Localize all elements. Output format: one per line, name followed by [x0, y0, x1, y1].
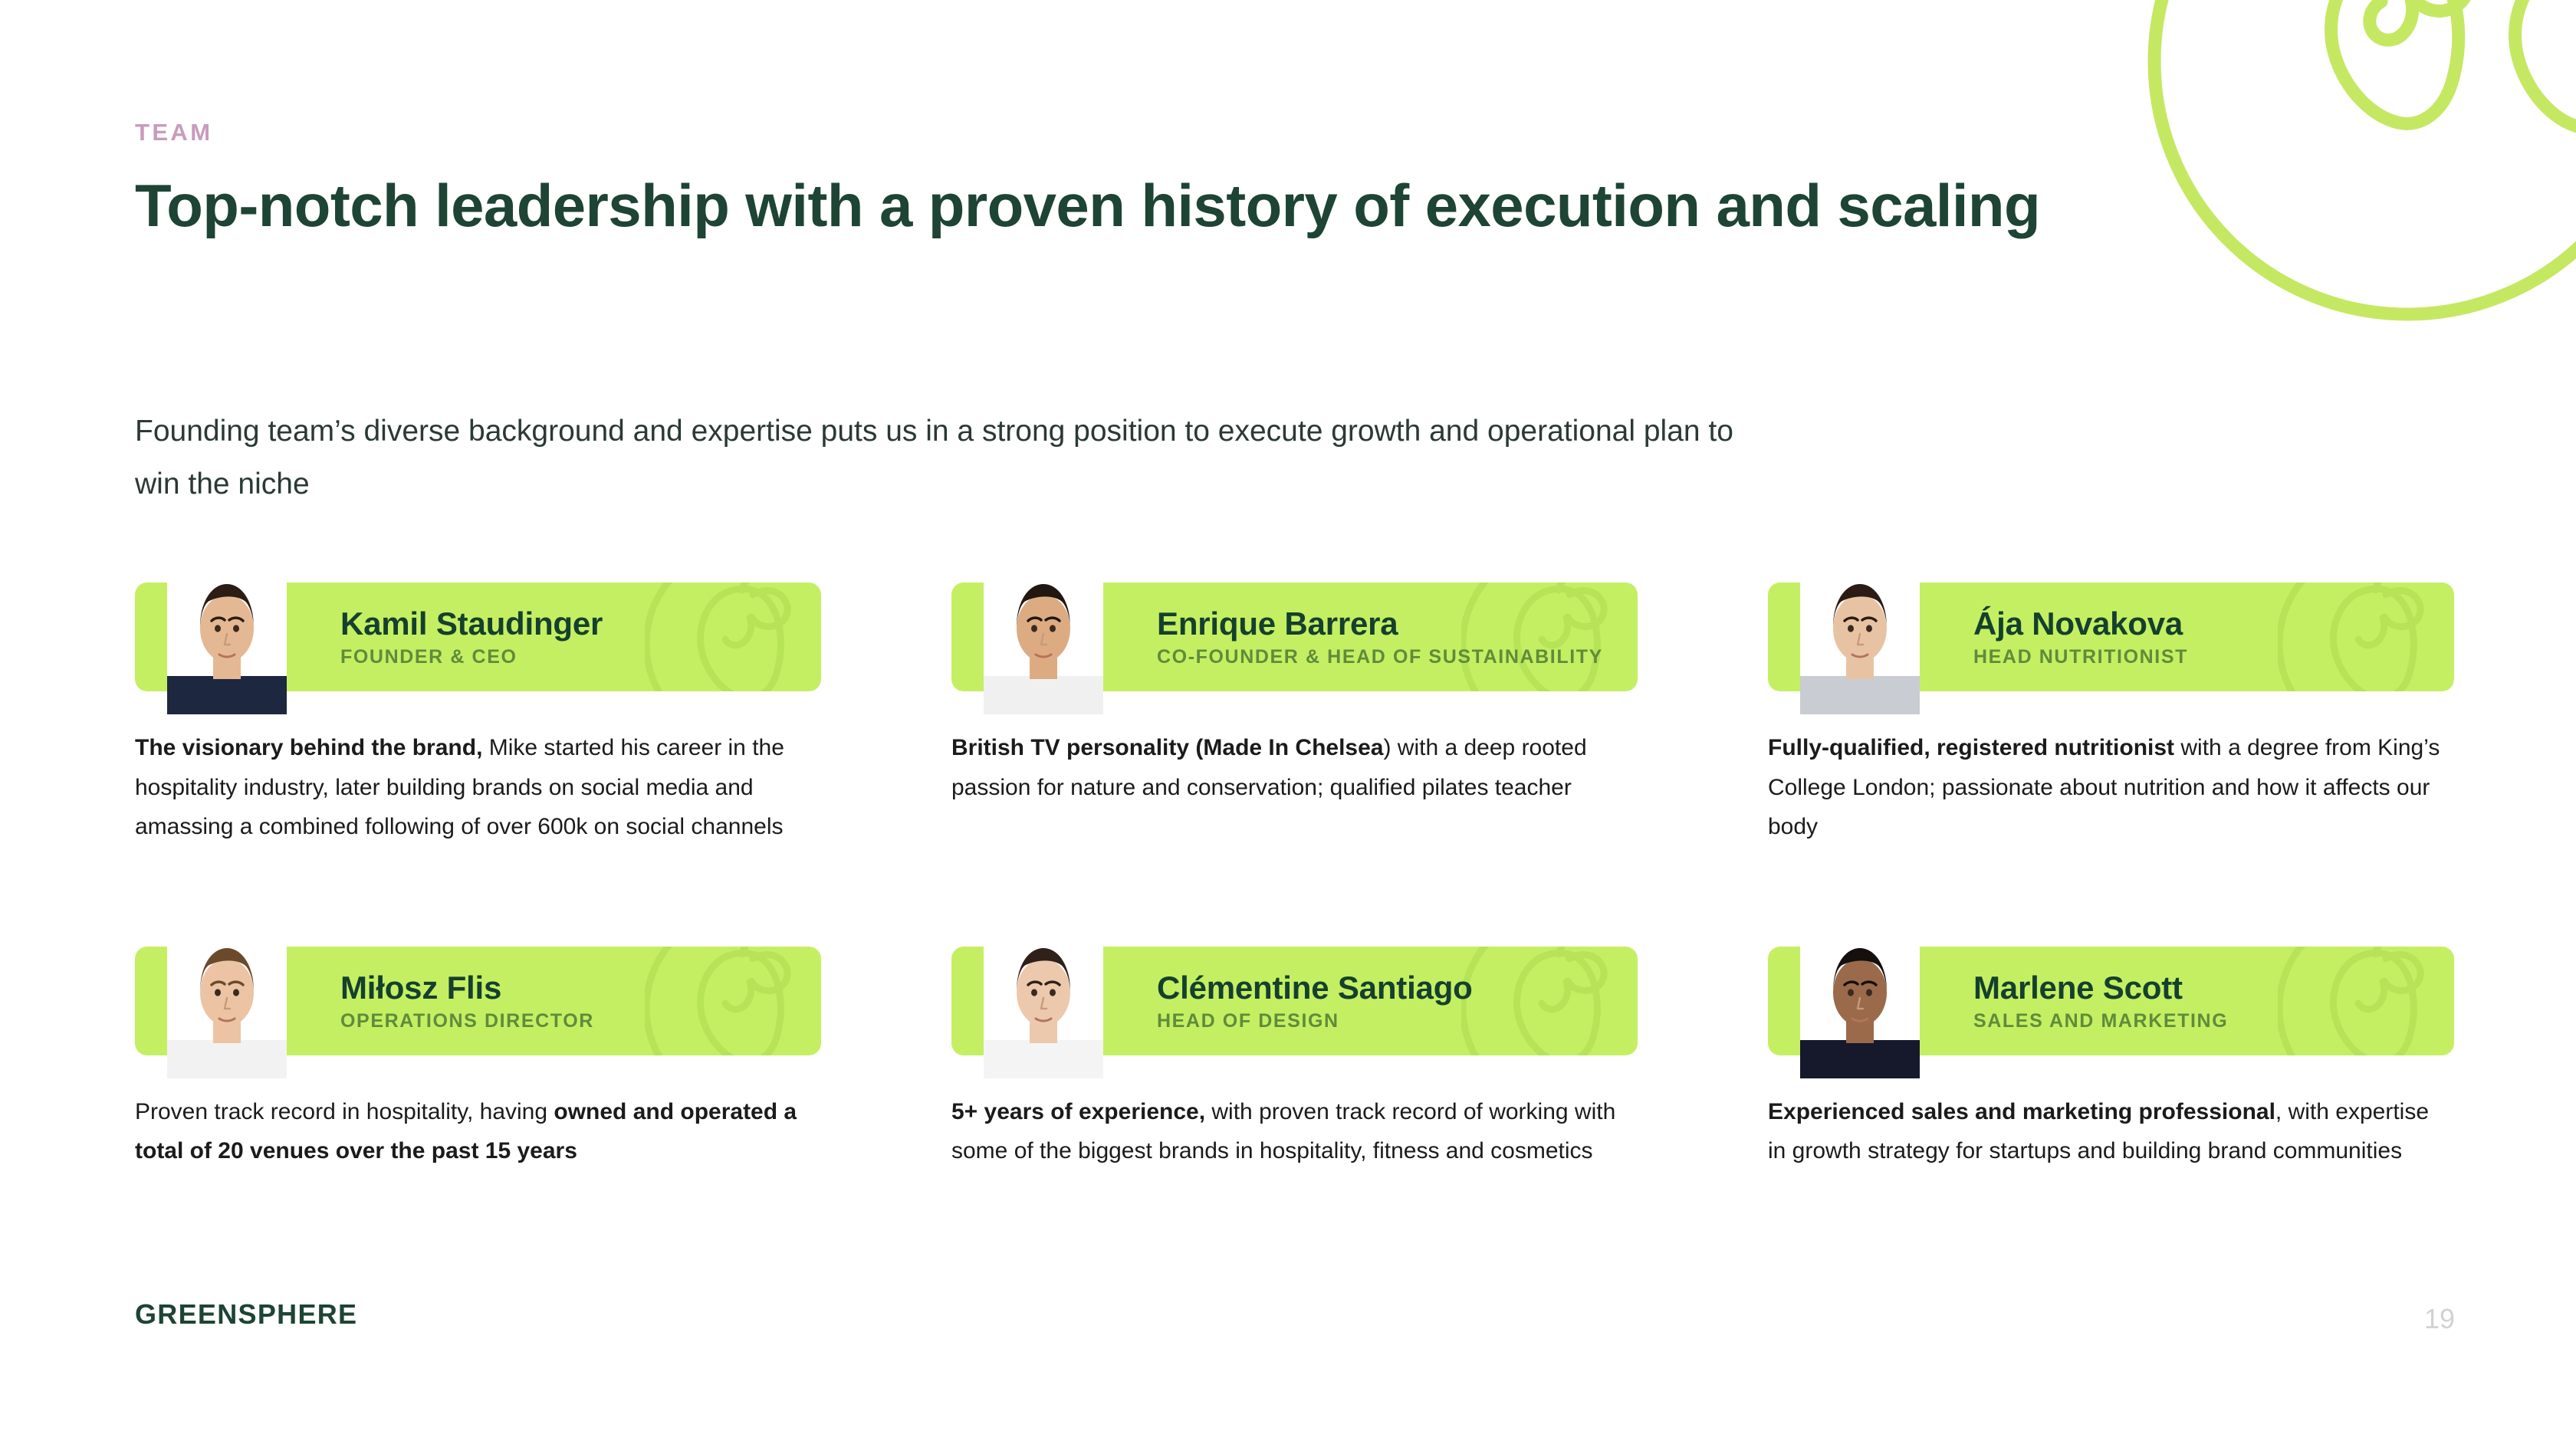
member-bio-highlight: Fully-qualified, registered nutritionist: [1768, 735, 2174, 760]
member-name: Enrique Barrera: [1157, 605, 1603, 642]
member-role: SALES AND MARKETING: [1973, 1011, 2228, 1032]
member-role: FOUNDER & CEO: [340, 647, 603, 668]
team-member-card: Ája Novakova HEAD NUTRITIONIST Fully-qua…: [1768, 583, 2454, 847]
member-photo-image: [167, 925, 287, 1078]
member-name: Miłosz Flis: [340, 970, 594, 1006]
member-photo-image: [1800, 561, 1920, 714]
member-name: Marlene Scott: [1973, 970, 2228, 1006]
team-member-card: Kamil Staudinger FOUNDER & CEO The visio…: [135, 583, 821, 847]
member-bio: Experienced sales and marketing professi…: [1768, 1092, 2443, 1171]
member-identity: Ája Novakova HEAD NUTRITIONIST: [1973, 583, 2188, 691]
member-bio: Proven track record in hospitality, havi…: [135, 1092, 810, 1171]
member-photo-image: [167, 561, 287, 714]
member-role: HEAD OF DESIGN: [1157, 1011, 1473, 1032]
banner-watermark-icon: [645, 583, 821, 691]
banner-watermark-icon: [1461, 947, 1638, 1055]
page-subtitle: Founding team’s diverse background and e…: [135, 405, 1745, 511]
team-member-card: Miłosz Flis OPERATIONS DIRECTOR Proven t…: [135, 947, 821, 1171]
team-member-card: Marlene Scott SALES AND MARKETING Experi…: [1768, 947, 2454, 1171]
team-member-grid: Kamil Staudinger FOUNDER & CEO The visio…: [135, 583, 2443, 1171]
member-avatar: [167, 561, 287, 714]
member-photo-image: [984, 561, 1103, 714]
member-avatar: [984, 925, 1103, 1078]
member-bio: 5+ years of experience, with proven trac…: [951, 1092, 1626, 1171]
member-photo-image: [984, 925, 1103, 1078]
banner-watermark-icon: [2278, 583, 2454, 691]
member-photo-image: [1800, 925, 1920, 1078]
member-bio: British TV personality (Made In Chelsea)…: [951, 728, 1626, 807]
member-identity: Clémentine Santiago HEAD OF DESIGN: [1157, 947, 1473, 1055]
member-bio-highlight: Experienced sales and marketing professi…: [1768, 1099, 2275, 1124]
team-member-card: Enrique Barrera CO-FOUNDER & HEAD OF SUS…: [951, 583, 1638, 847]
member-role: HEAD NUTRITIONIST: [1973, 647, 2188, 668]
member-avatar: [984, 561, 1103, 714]
member-role: CO-FOUNDER & HEAD OF SUSTAINABILITY: [1157, 647, 1603, 668]
member-bio-lead: Proven track record in hospitality, havi…: [135, 1099, 554, 1124]
member-name: Ája Novakova: [1973, 605, 2188, 642]
page-number: 19: [2424, 1303, 2455, 1335]
member-bio-highlight: The visionary behind the brand,: [135, 735, 482, 760]
member-identity: Kamil Staudinger FOUNDER & CEO: [340, 583, 603, 691]
banner-watermark-icon: [2278, 947, 2454, 1055]
member-identity: Enrique Barrera CO-FOUNDER & HEAD OF SUS…: [1157, 583, 1603, 691]
member-avatar: [167, 925, 287, 1078]
member-role: OPERATIONS DIRECTOR: [340, 1011, 594, 1032]
member-avatar: [1800, 561, 1920, 714]
team-member-card: Clémentine Santiago HEAD OF DESIGN 5+ ye…: [951, 947, 1638, 1171]
member-bio: The visionary behind the brand, Mike sta…: [135, 728, 810, 847]
member-bio-highlight: 5+ years of experience,: [951, 1099, 1205, 1124]
member-bio: Fully-qualified, registered nutritionist…: [1768, 728, 2443, 847]
section-eyebrow-label: TEAM: [135, 119, 212, 146]
member-name: Clémentine Santiago: [1157, 970, 1473, 1006]
member-avatar: [1800, 925, 1920, 1078]
member-identity: Miłosz Flis OPERATIONS DIRECTOR: [340, 947, 594, 1055]
brand-logo: GREENSPHERE: [135, 1298, 357, 1331]
member-name: Kamil Staudinger: [340, 605, 603, 642]
page-title: Top-notch leadership with a proven histo…: [135, 170, 2404, 241]
member-identity: Marlene Scott SALES AND MARKETING: [1973, 947, 2228, 1055]
member-bio-highlight: British TV personality (Made In Chelsea: [951, 735, 1383, 760]
banner-watermark-icon: [645, 947, 821, 1055]
